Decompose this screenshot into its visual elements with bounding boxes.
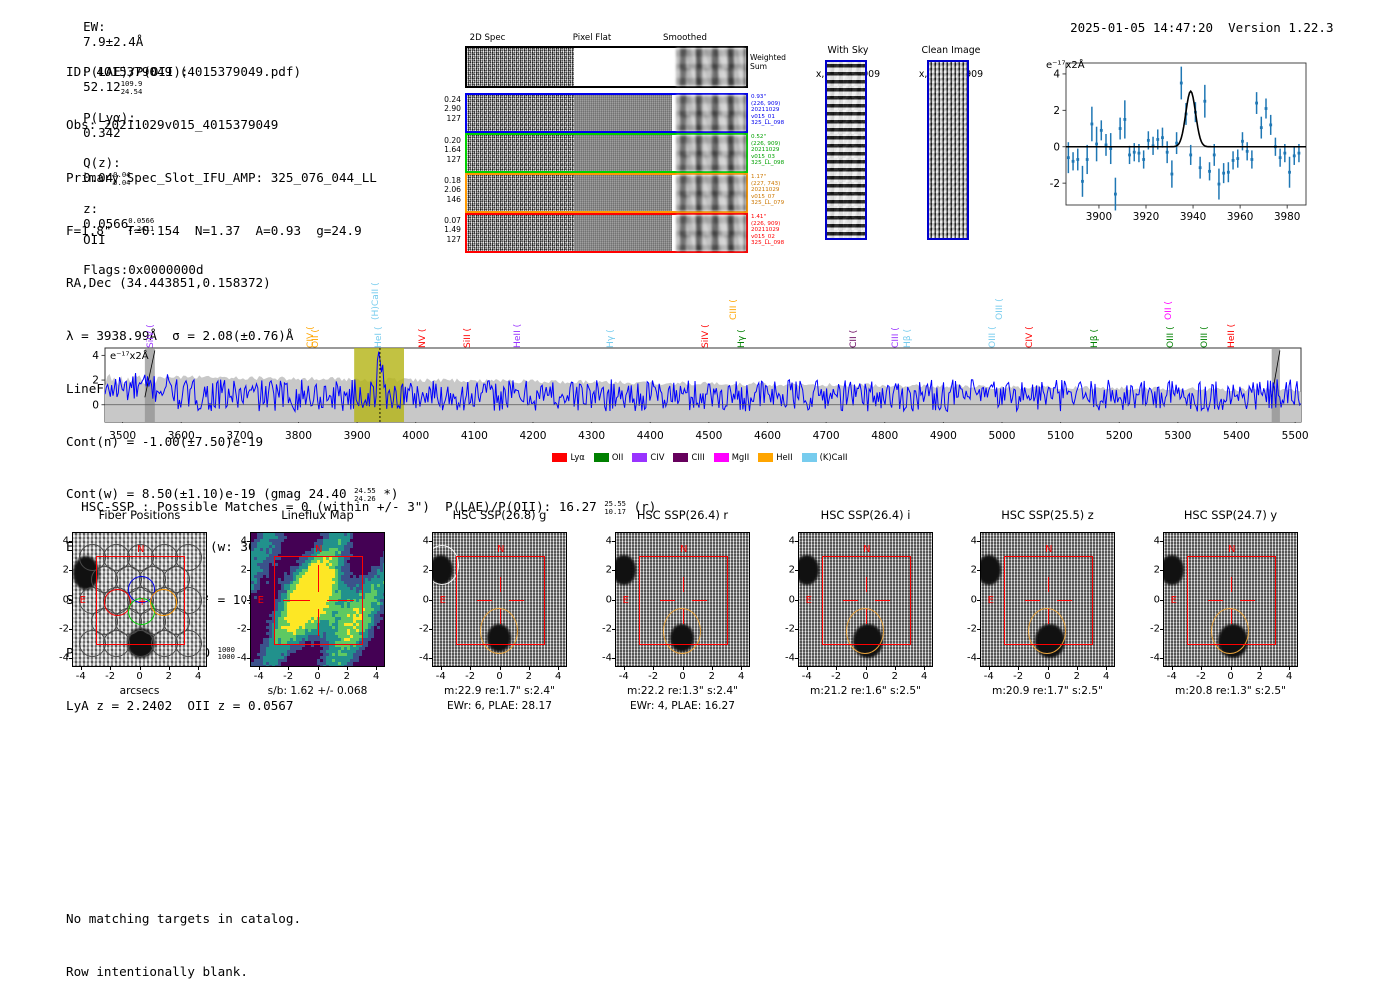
crosshair-horizontal: [1240, 600, 1255, 601]
panel-ytick-label: -2: [958, 623, 977, 634]
panel-ytick-label: -2: [50, 623, 69, 634]
line-fit-svg: -202439003920394039603980: [1040, 57, 1312, 227]
panel-image[interactable]: +NE: [72, 532, 207, 667]
spectrum-xtick-label: 4200: [519, 430, 546, 442]
panel-ytick-mark: [69, 658, 72, 659]
neighbor-blob: [980, 555, 1001, 585]
panel-xtick-label: 4: [921, 671, 927, 682]
spectrum-xtick-label: 3700: [226, 430, 253, 442]
panel-title: HSC SSP(24.7) y: [1163, 508, 1298, 522]
panel-xtick-label: -2: [831, 671, 841, 682]
spectrum-xtick-label: 3900: [344, 430, 371, 442]
emission-line-label: HeII (: [513, 290, 523, 348]
north-label: N: [137, 544, 144, 555]
two-d-spectra-block: 2D Spec Pixel Flat Smoothed Weighted Sum…: [430, 33, 770, 255]
ifu-footprint-box: [1187, 556, 1275, 644]
center-marker: +: [138, 596, 147, 607]
panel-xtick-mark: [318, 667, 319, 670]
emission-line-label: NV (: [418, 290, 428, 348]
panel-xtick-label: 4: [555, 671, 561, 682]
panel-xtick-mark: [1231, 667, 1232, 670]
panel-title: HSC SSP(26.4) r: [615, 508, 750, 522]
emission-line-label: SiIV (: [701, 290, 711, 348]
legend-label: MgII: [732, 452, 749, 462]
ifu-footprint-box: [1004, 556, 1092, 644]
panel-xtick-mark: [500, 667, 501, 670]
panel-hsc-4: HSC SSP(26.4) iNE420-2-4-4-2024m:21.2 re…: [798, 508, 933, 723]
panel-ytick-mark: [612, 658, 615, 659]
panel-ytick-mark: [1160, 600, 1163, 601]
emission-line-label-layer: SiIV (OII (CIV ((H)CaII (HeI (NV (SiII (…: [75, 262, 1303, 348]
fiber-row-2: [465, 133, 748, 173]
info-obs: Obs: 20211029v015_4015379049: [66, 116, 399, 134]
crosshair-horizontal: [327, 600, 353, 601]
panel-xtick-mark: [1048, 667, 1049, 670]
panel-ytick-label: 4: [228, 535, 247, 546]
crosshair-vertical: [1048, 577, 1049, 592]
ifu-footprint-box: [456, 556, 544, 644]
panel-xtick-label: 0: [1227, 671, 1233, 682]
panel-xtick-mark: [441, 667, 442, 670]
spectrum-xtick-label: 4700: [813, 430, 840, 442]
spectrum-xtick-label: 4100: [461, 430, 488, 442]
panel-xtick-mark: [683, 667, 684, 670]
panel-ytick-label: 0: [50, 594, 69, 605]
crosshair-horizontal: [1057, 600, 1072, 601]
neighbor-blob: [615, 555, 636, 585]
panel-xtick-mark: [1018, 667, 1019, 670]
east-label: E: [806, 595, 812, 606]
panel-xtick-mark: [140, 667, 141, 670]
crosshair-horizontal: [692, 600, 707, 601]
svg-text:2: 2: [1053, 105, 1060, 117]
line-fit-plot: -202439003920394039603980 e⁻¹⁷x2Å: [1040, 57, 1312, 227]
crosshair-horizontal: [1025, 600, 1040, 601]
legend-entry: MgII: [714, 452, 749, 462]
panel-xtick-mark: [470, 667, 471, 670]
panel-xtick-label: 2: [344, 671, 350, 682]
svg-text:3920: 3920: [1133, 211, 1159, 223]
north-label: N: [315, 544, 322, 555]
panel-ytick-mark: [977, 600, 980, 601]
east-label: E: [258, 595, 264, 606]
crosshair-vertical: [866, 609, 867, 624]
emission-line-label: OIII (: [995, 262, 1005, 320]
panel-xtick-mark: [259, 667, 260, 670]
panel-xtick-label: 4: [738, 671, 744, 682]
panel-xtick-mark: [376, 667, 377, 670]
legend-entry: CIII: [673, 452, 704, 462]
north-label: N: [863, 544, 870, 555]
panel-xtick-label: -2: [283, 671, 293, 682]
panel-ytick-mark: [429, 541, 432, 542]
panel-image[interactable]: NE: [798, 532, 933, 667]
version: Version 1.22.3: [1228, 20, 1333, 35]
spectrum-xtick-label: 4300: [578, 430, 605, 442]
panel-xtick-mark: [1201, 667, 1202, 670]
panel-ytick-mark: [612, 541, 615, 542]
panel-caption-primary: m:20.8 re:1.3" s:2.5": [1149, 685, 1312, 697]
panel-xtick-mark: [741, 667, 742, 670]
panel-xtick-label: 0: [136, 671, 142, 682]
panel-ytick-mark: [977, 570, 980, 571]
panel-ytick-mark: [247, 570, 250, 571]
panel-title: HSC SSP(26.4) i: [798, 508, 933, 522]
panel-ytick-label: 2: [50, 565, 69, 576]
panel-xlabel: arcsecs: [72, 685, 207, 697]
spectrum-xtick-label: 4000: [402, 430, 429, 442]
panel-xtick-label: 2: [166, 671, 172, 682]
panel-xtick-label: -4: [984, 671, 994, 682]
panel-ytick-mark: [429, 629, 432, 630]
panel-xtick-mark: [558, 667, 559, 670]
spectrum-xtick-label: 4900: [930, 430, 957, 442]
panel-hsc-5: HSC SSP(25.5) zNE420-2-4-4-2024m:20.9 re…: [980, 508, 1115, 723]
panel-ytick-mark: [977, 541, 980, 542]
panel-image[interactable]: NE: [1163, 532, 1298, 667]
panel-ytick-label: 4: [593, 535, 612, 546]
panel-xtick-label: -2: [1013, 671, 1023, 682]
panel-xtick-mark: [1172, 667, 1173, 670]
spectrum-xtick-label: 3800: [285, 430, 312, 442]
panel-ytick-mark: [69, 600, 72, 601]
panel-xtick-label: 4: [1286, 671, 1292, 682]
panel-caption-primary: m:22.2 re:1.3" s:2.4": [601, 685, 764, 697]
panel-ytick-label: 2: [228, 565, 247, 576]
panel-ytick-label: 2: [593, 565, 612, 576]
east-label: E: [440, 595, 446, 606]
fiber-row-3: [465, 173, 748, 213]
panel-xtick-label: 4: [195, 671, 201, 682]
north-label: N: [680, 544, 687, 555]
panel-ytick-label: 2: [958, 565, 977, 576]
aperture-circle: [432, 545, 459, 585]
emission-line-label: CIII (: [729, 262, 739, 320]
panel-caption-secondary: EWr: 4, PLAE: 16.27: [601, 700, 764, 712]
crosshair-vertical: [500, 577, 501, 592]
panel-ytick-label: 2: [776, 565, 795, 576]
panel-ytick-mark: [795, 541, 798, 542]
panel-xtick-mark: [347, 667, 348, 670]
panel-caption-primary: m:20.9 re:1.7" s:2.5": [966, 685, 1129, 697]
panel-xtick-mark: [653, 667, 654, 670]
crosshair-vertical: [683, 577, 684, 592]
panel-xtick-label: -2: [465, 671, 475, 682]
emission-line-label: Hγ (: [606, 290, 616, 348]
crosshair-vertical: [1048, 609, 1049, 624]
legend-swatch: [802, 453, 817, 462]
crosshair-horizontal: [875, 600, 890, 601]
emission-line-label: HeI (: [374, 290, 384, 348]
header-timestamp-version: 2025-01-05 14:47:20 Version 1.22.3: [1055, 5, 1333, 35]
panel-ytick-mark: [1160, 570, 1163, 571]
panel-hsc-6: HSC SSP(24.7) yNE420-2-4-4-2024m:20.8 re…: [1163, 508, 1298, 723]
panel-xtick-mark: [529, 667, 530, 670]
panel-ytick-mark: [429, 600, 432, 601]
footer-line-1: No matching targets in catalog.: [66, 910, 301, 928]
with-sky-cutout: [825, 60, 867, 240]
emission-line-label: HeII (: [1227, 290, 1237, 348]
crosshair-horizontal: [283, 600, 309, 601]
legend-swatch: [594, 453, 609, 462]
panel-xtick-label: 0: [314, 671, 320, 682]
panel-xtick-mark: [924, 667, 925, 670]
spectrum-xtick-label: 3500: [109, 430, 136, 442]
spectrum-xtick-label: 4400: [637, 430, 664, 442]
panel-title: Fiber Positions: [72, 508, 207, 522]
info-id: ID: 4015379049 (4015379049.pdf): [66, 63, 399, 81]
svg-text:4: 4: [92, 350, 99, 362]
panel-ytick-label: -4: [958, 653, 977, 664]
panel-ytick-label: -2: [776, 623, 795, 634]
emission-line-label: SiIV (: [146, 290, 156, 348]
panel-xtick-mark: [1289, 667, 1290, 670]
spectrum-xtick-label: 5000: [989, 430, 1016, 442]
spectrum-xtick-label: 3600: [168, 430, 195, 442]
panel-xtick-mark: [110, 667, 111, 670]
panel-ytick-label: -2: [1141, 623, 1160, 634]
weighted-sum-label: Weighted Sum: [750, 53, 786, 71]
fiber-right-info-4: 1.41" (226, 909) 20211029 v015_02 325_LL…: [751, 214, 784, 247]
fiber-left-stats-2: 0.20 1.64 127: [425, 136, 461, 164]
panel-lineflux-1: Lineflux MapNE420-2-4-4-2024s/b: 1.62 +/…: [250, 508, 385, 723]
panel-ytick-label: -4: [228, 653, 247, 664]
panel-xtick-mark: [989, 667, 990, 670]
panel-ytick-label: 4: [776, 535, 795, 546]
panel-ytick-mark: [795, 629, 798, 630]
panel-xtick-label: 2: [892, 671, 898, 682]
fiber-row-1: [465, 93, 748, 133]
panel-xtick-mark: [895, 667, 896, 670]
fiber-right-info-3: 1.17" (227, 743) 20211029 v015_07 325_LL…: [751, 174, 784, 207]
panel-xtick-mark: [288, 667, 289, 670]
timestamp: 2025-01-05 14:47:20: [1070, 20, 1213, 35]
panel-ytick-label: 0: [410, 594, 429, 605]
panel-ytick-label: 4: [1141, 535, 1160, 546]
legend-swatch: [632, 453, 647, 462]
emission-line-label: Hβ (: [1090, 290, 1100, 348]
emission-line-label: CII (: [849, 290, 859, 348]
linefit-units-label: e⁻¹⁷x2Å: [1046, 60, 1085, 71]
panel-title: Lineflux Map: [250, 508, 385, 522]
emission-line-label: CIV (: [306, 290, 316, 348]
spectrum-legend: LyαOIICIVCIIIMgIIHeII(K)CaII: [0, 450, 1400, 464]
neighbor-blob: [798, 555, 819, 585]
legend-entry: (K)CaII: [802, 452, 848, 462]
panel-xtick-label: 0: [679, 671, 685, 682]
panel-xtick-label: 4: [373, 671, 379, 682]
panel-fibers-0: Fiber Positions+NE420-2-4-4-2024arcsecs: [72, 508, 207, 723]
north-label: N: [1228, 544, 1235, 555]
panel-ytick-label: -2: [593, 623, 612, 634]
panel-caption-primary: m:21.2 re:1.6" s:2.5": [784, 685, 947, 697]
panel-ytick-label: 0: [228, 594, 247, 605]
spectrum-xtick-label: 5500: [1282, 430, 1309, 442]
info-seeing-throughput: F=1.8" T=0.154 N=1.37 A=0.93 g=24.9: [66, 222, 399, 240]
legend-entry: OII: [594, 452, 624, 462]
panel-xtick-mark: [836, 667, 837, 670]
legend-entry: CIV: [632, 452, 664, 462]
panel-hsc-2: HSC SSP(26.8) gNE420-2-4-4-2024m:22.9 re…: [432, 508, 567, 723]
panel-xtick-label: 0: [862, 671, 868, 682]
panel-ytick-label: -4: [776, 653, 795, 664]
legend-label: (K)CaII: [820, 452, 848, 462]
panel-ytick-label: -2: [228, 623, 247, 634]
neighbor-blob: [1163, 555, 1184, 585]
panel-xtick-label: -2: [1196, 671, 1206, 682]
panel-title: HSC SSP(26.8) g: [432, 508, 567, 522]
crosshair-horizontal: [477, 600, 492, 601]
svg-text:-2: -2: [1050, 178, 1060, 190]
panel-xtick-label: 2: [1257, 671, 1263, 682]
info-primary-spec-slot: Primary Spec_Slot_IFU_AMP: 325_076_044_L…: [66, 169, 399, 187]
panel-xtick-label: 2: [1074, 671, 1080, 682]
svg-text:3960: 3960: [1227, 211, 1253, 223]
fiber-left-stats-4: 0.07 1.49 127: [425, 216, 461, 244]
svg-text:e⁻¹⁷x2Å: e⁻¹⁷x2Å: [110, 349, 149, 362]
panel-xtick-label: -2: [648, 671, 658, 682]
panel-ytick-mark: [795, 570, 798, 571]
north-label: N: [497, 544, 504, 555]
crosshair-vertical: [318, 609, 319, 635]
footer-note: No matching targets in catalog. Row inte…: [66, 875, 301, 998]
crosshair-vertical: [318, 565, 319, 591]
crosshair-horizontal: [843, 600, 858, 601]
svg-text:0: 0: [92, 399, 99, 411]
panel-xtick-label: 0: [496, 671, 502, 682]
panel-xtick-label: 4: [1103, 671, 1109, 682]
footer-line-2: Row intentionally blank.: [66, 963, 301, 981]
emission-line-label: OIII (: [1200, 290, 1210, 348]
panel-ytick-mark: [977, 658, 980, 659]
full-spectrum-svg: 024e⁻¹⁷x2Å: [75, 347, 1303, 423]
panel-ytick-label: -4: [410, 653, 429, 664]
emission-line-label: CIV (: [1025, 290, 1035, 348]
spectrum-xtick-label: 5100: [1047, 430, 1074, 442]
crosshair-horizontal: [509, 600, 524, 601]
legend-label: OII: [612, 452, 624, 462]
east-label: E: [623, 595, 629, 606]
panel-xtick-mark: [1260, 667, 1261, 670]
panel-xtick-label: -2: [105, 671, 115, 682]
crosshair-vertical: [500, 609, 501, 624]
spectrum-xtick-label: 4600: [754, 430, 781, 442]
weighted-sum-row: [465, 46, 748, 88]
panel-xtick-label: 0: [1044, 671, 1050, 682]
crosshair-vertical: [866, 577, 867, 592]
svg-text:0: 0: [1053, 141, 1060, 153]
panel-ytick-label: 0: [1141, 594, 1160, 605]
panel-ytick-mark: [1160, 629, 1163, 630]
legend-entry: Lyα: [552, 452, 584, 462]
clean-image-cutout: [927, 60, 969, 240]
spec2d-title-pixelflat: Pixel Flat: [542, 33, 642, 43]
panel-xtick-mark: [169, 667, 170, 670]
svg-text:3940: 3940: [1180, 211, 1206, 223]
emission-line-label: CIII (: [891, 290, 901, 348]
panel-ytick-label: 0: [593, 594, 612, 605]
svg-text:3900: 3900: [1086, 211, 1112, 223]
panel-xtick-label: 2: [526, 671, 532, 682]
panel-xtick-label: -4: [802, 671, 812, 682]
panel-image[interactable]: NE: [615, 532, 750, 667]
spec2d-title-2dspec: 2D Spec: [430, 33, 545, 43]
panel-image[interactable]: NE: [250, 532, 385, 667]
legend-label: CIV: [650, 452, 664, 462]
panel-ytick-mark: [247, 629, 250, 630]
legend-label: CIII: [691, 452, 704, 462]
panel-xtick-label: -4: [619, 671, 629, 682]
spectrum-xtick-label: 4500: [695, 430, 722, 442]
panel-xtick-label: -4: [1167, 671, 1177, 682]
fiber-right-info-1: 0.93" (226, 909) 20211029 v015_01 325_LL…: [751, 94, 784, 127]
panel-xtick-mark: [1106, 667, 1107, 670]
panel-ytick-mark: [1160, 658, 1163, 659]
svg-text:2: 2: [92, 375, 99, 387]
panel-title: HSC SSP(25.5) z: [980, 508, 1115, 522]
emission-line-label: SiII (: [463, 290, 473, 348]
panel-caption-primary: s/b: 1.62 +/- 0.068: [236, 685, 399, 697]
spectrum-xtick-label: 5300: [1164, 430, 1191, 442]
crosshair-vertical: [1231, 609, 1232, 624]
panel-ytick-mark: [795, 658, 798, 659]
panel-xtick-label: 2: [709, 671, 715, 682]
spec2d-title-smoothed: Smoothed: [635, 33, 735, 43]
panel-ytick-mark: [429, 658, 432, 659]
spectrum-xtick-label: 5400: [1223, 430, 1250, 442]
legend-swatch: [552, 453, 567, 462]
panel-image[interactable]: NE: [980, 532, 1115, 667]
crosshair-vertical: [683, 609, 684, 624]
panel-ytick-label: 4: [50, 535, 69, 546]
crosshair-horizontal: [660, 600, 675, 601]
panel-xtick-mark: [1077, 667, 1078, 670]
legend-swatch: [714, 453, 729, 462]
cutout-panel-row: Fiber Positions+NE420-2-4-4-2024arcsecsL…: [0, 508, 1400, 728]
svg-text:3980: 3980: [1274, 211, 1300, 223]
panel-ytick-label: -4: [1141, 653, 1160, 664]
panel-caption-secondary: EWr: 6, PLAE: 28.17: [418, 700, 581, 712]
full-spectrum-xticks: 3500360037003800390040004100420043004400…: [0, 430, 1400, 446]
panel-ytick-mark: [612, 629, 615, 630]
fiber-right-info-2: 0.52" (226, 909) 20211029 v015_03 325_LL…: [751, 134, 784, 167]
legend-swatch: [758, 453, 773, 462]
panel-ytick-label: 0: [776, 594, 795, 605]
panel-xtick-label: -4: [254, 671, 264, 682]
north-label: N: [1045, 544, 1052, 555]
legend-entry: HeII: [758, 452, 792, 462]
panel-xtick-label: -4: [436, 671, 446, 682]
fiber-left-stats-3: 0.18 2.06 146: [425, 176, 461, 204]
panel-caption-primary: m:22.9 re:1.7" s:2.4": [418, 685, 581, 697]
panel-ytick-mark: [69, 541, 72, 542]
panel-image[interactable]: NE: [432, 532, 567, 667]
full-spectrum-plot: 024e⁻¹⁷x2Å: [75, 347, 1303, 423]
panel-hsc-3: HSC SSP(26.4) rNE420-2-4-4-2024m:22.2 re…: [615, 508, 750, 723]
east-label: E: [988, 595, 994, 606]
panel-ytick-mark: [247, 541, 250, 542]
crosshair-vertical: [1231, 577, 1232, 592]
panel-xtick-mark: [807, 667, 808, 670]
spectrum-xtick-label: 5200: [1106, 430, 1133, 442]
spectrum-xtick-label: 4800: [871, 430, 898, 442]
emission-line-label: OII (: [1164, 262, 1174, 320]
fiber-row-4: [465, 213, 748, 253]
panel-ytick-label: 0: [958, 594, 977, 605]
panel-ytick-mark: [247, 600, 250, 601]
panel-ytick-mark: [247, 658, 250, 659]
crosshair-horizontal: [1208, 600, 1223, 601]
